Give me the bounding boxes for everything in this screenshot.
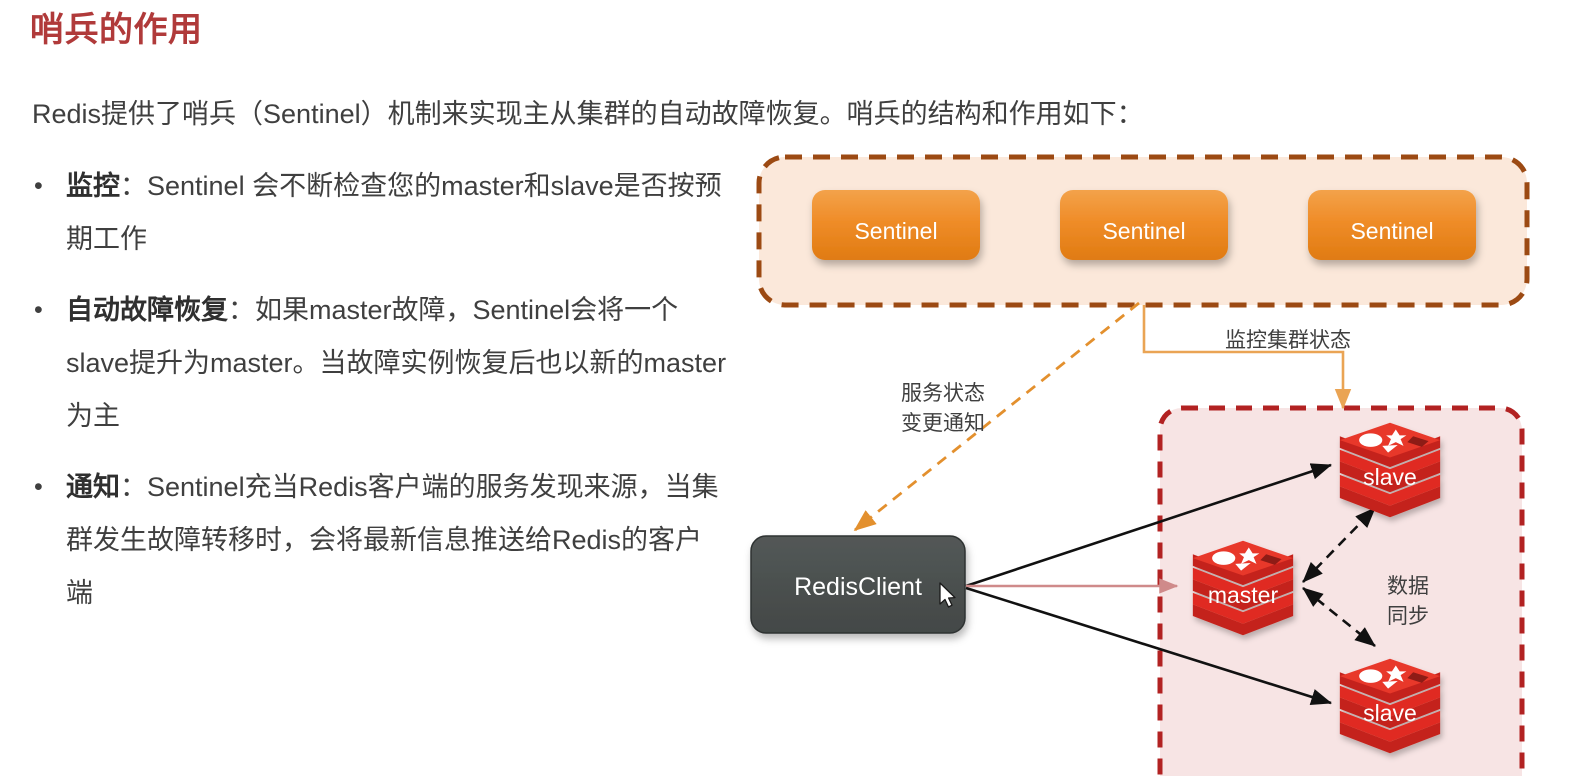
bullet-marker-icon: •: [28, 284, 66, 337]
redis-node-slave-bottom-label: slave: [1363, 700, 1417, 726]
bullet-list: • 监控：Sentinel 会不断检查您的master和slave是否按预期工作…: [28, 160, 728, 638]
edge-service-state-notify-label-line2: 变更通知: [901, 412, 985, 435]
list-item-text: Sentinel 会不断检查您的master和slave是否按预期工作: [66, 171, 722, 254]
sentinel-architecture-diagram: Sentinel Sentinel Sentinel 监控集群状态 服务状态 变…: [735, 145, 1583, 776]
redis-client-label: RedisClient: [794, 573, 922, 601]
list-item: • 监控：Sentinel 会不断检查您的master和slave是否按预期工作: [28, 160, 728, 266]
page-title: 哨兵的作用: [30, 2, 203, 51]
list-item-term: 监控: [66, 171, 120, 201]
sentinel-node-2[interactable]: Sentinel: [1060, 190, 1228, 260]
bullet-marker-icon: •: [28, 160, 66, 213]
list-item-text: Sentinel充当Redis客户端的服务发现来源，当集群发生故障转移时，会将最…: [66, 472, 719, 608]
list-item-separator: ：: [120, 472, 147, 502]
list-item-term: 通知: [66, 472, 120, 502]
edge-monitor-cluster-state-label: 监控集群状态: [1225, 329, 1351, 352]
list-item: • 自动故障恢复：如果master故障，Sentinel会将一个slave提升为…: [28, 284, 728, 443]
redis-node-slave-top-label: slave: [1363, 464, 1417, 490]
sentinel-node-3[interactable]: Sentinel: [1308, 190, 1476, 260]
redis-client-box[interactable]: RedisClient: [751, 536, 965, 633]
redis-node-slave-bottom[interactable]: slave: [1340, 659, 1440, 754]
sentinel-node-2-label: Sentinel: [1102, 218, 1185, 244]
list-item-separator: ：: [120, 171, 147, 201]
bullet-marker-icon: •: [28, 461, 66, 514]
edge-monitor-cluster-state: 监控集群状态: [1144, 305, 1351, 408]
redis-node-master[interactable]: master: [1193, 541, 1293, 636]
list-item-separator: ：: [228, 295, 255, 325]
edge-data-sync-label-line1: 数据: [1387, 575, 1429, 598]
edge-service-state-notify-label-line1: 服务状态: [901, 382, 985, 405]
edge-service-state-change-notify: 服务状态 变更通知: [855, 303, 1139, 530]
sentinel-node-3-label: Sentinel: [1350, 218, 1433, 244]
edge-data-sync-label-line2: 同步: [1387, 605, 1429, 628]
sentinel-node-1-label: Sentinel: [854, 218, 937, 244]
list-item-term: 自动故障恢复: [66, 295, 228, 325]
redis-node-master-label: master: [1208, 582, 1279, 608]
list-item-body: 通知：Sentinel充当Redis客户端的服务发现来源，当集群发生故障转移时，…: [66, 461, 728, 620]
list-item-body: 自动故障恢复：如果master故障，Sentinel会将一个slave提升为ma…: [66, 284, 728, 443]
list-item-body: 监控：Sentinel 会不断检查您的master和slave是否按预期工作: [66, 160, 728, 266]
sentinel-node-1[interactable]: Sentinel: [812, 190, 980, 260]
intro-paragraph: Redis提供了哨兵（Sentinel）机制来实现主从集群的自动故障恢复。哨兵的…: [32, 92, 1282, 131]
redis-node-slave-top[interactable]: slave: [1340, 423, 1440, 518]
list-item: • 通知：Sentinel充当Redis客户端的服务发现来源，当集群发生故障转移…: [28, 461, 728, 620]
